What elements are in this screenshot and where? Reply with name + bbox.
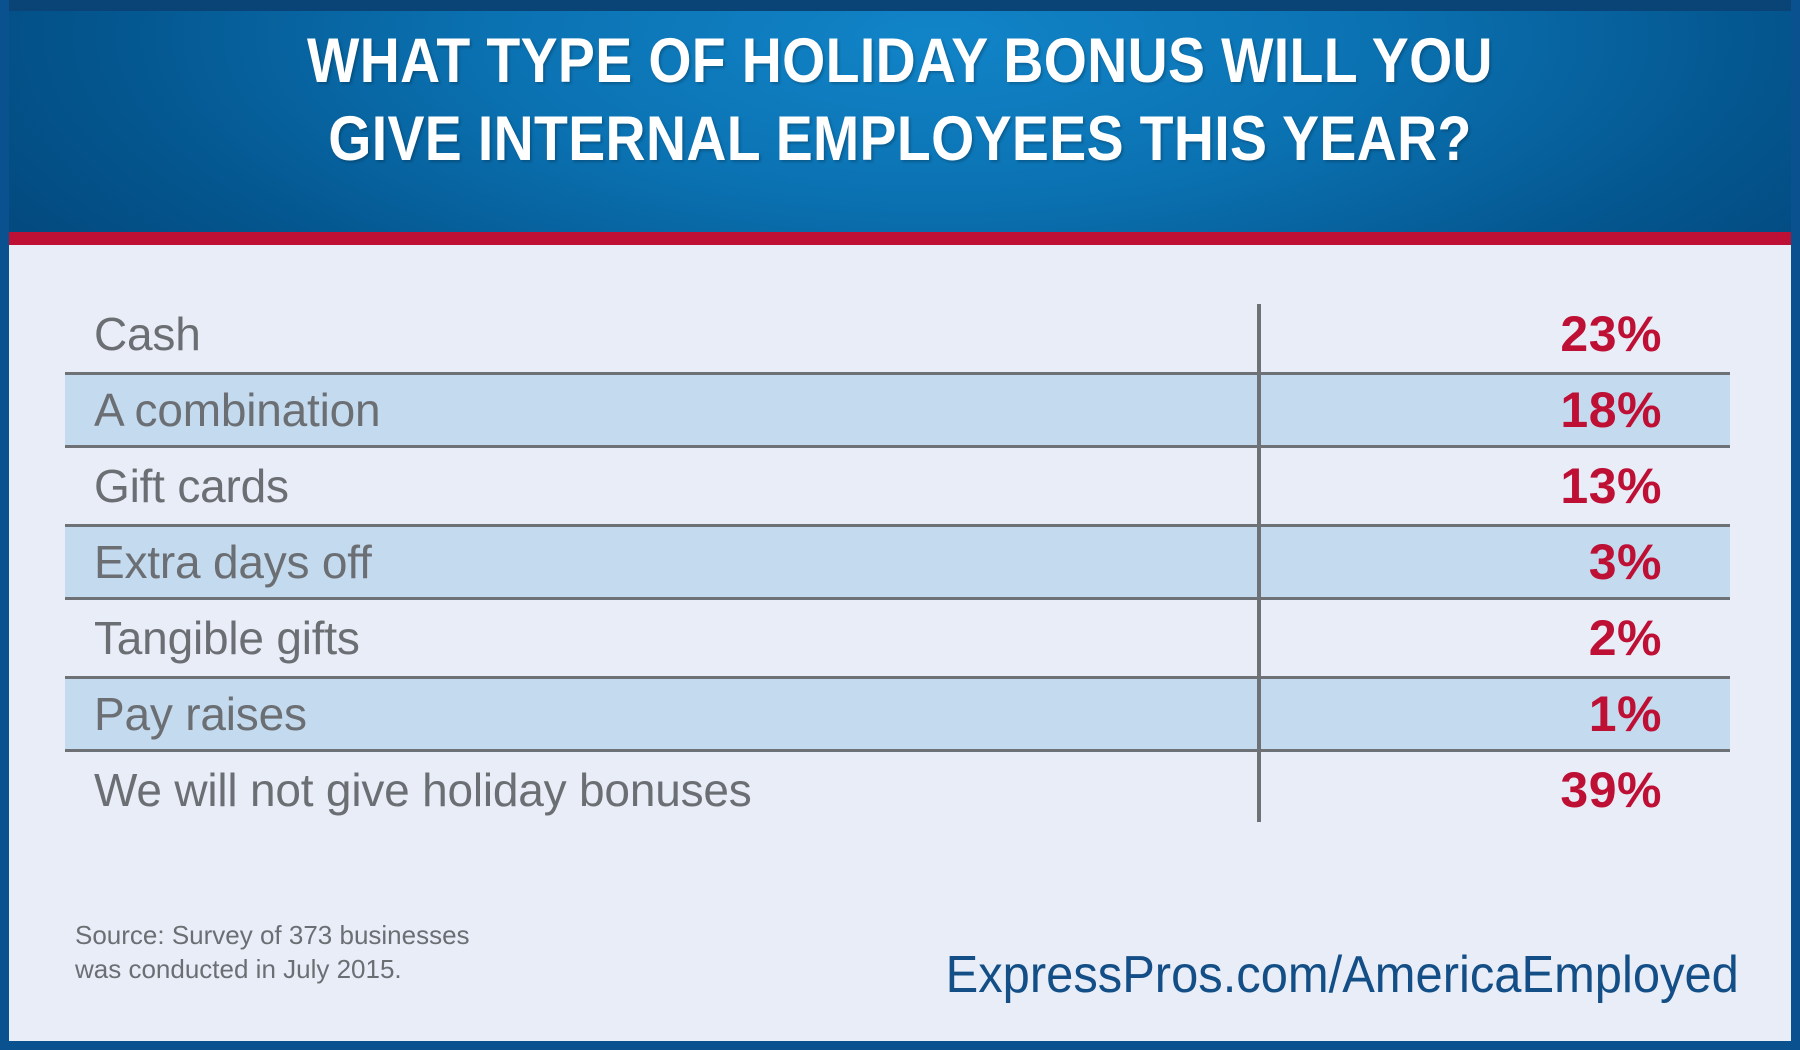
row-value: 18% [1245,381,1730,439]
row-label: Extra days off [65,535,1245,589]
column-divider [1257,304,1261,822]
row-label: Gift cards [65,459,1245,513]
row-value: 1% [1245,685,1730,743]
row-value: 2% [1245,609,1730,667]
row-value: 13% [1245,457,1730,515]
infographic-poster: WHAT TYPE OF HOLIDAY BONUS WILL YOU GIVE… [0,0,1800,1050]
website-url[interactable]: ExpressPros.com/AmericaEmployed [946,945,1739,1005]
header-banner: WHAT TYPE OF HOLIDAY BONUS WILL YOU GIVE… [0,0,1800,232]
table-row: Tangible gifts 2% [65,600,1730,676]
row-label: A combination [65,383,1245,437]
table-row: We will not give holiday bonuses 39% [65,752,1730,828]
page-title: WHAT TYPE OF HOLIDAY BONUS WILL YOU GIVE… [108,22,1692,178]
table-row: Gift cards 13% [65,448,1730,524]
table-row: Pay raises 1% [65,676,1730,752]
row-value: 3% [1245,533,1730,591]
row-value: 23% [1245,305,1730,363]
table-row: Cash 23% [65,296,1730,372]
source-note: Source: Survey of 373 businesses was con… [75,918,470,986]
row-value: 39% [1245,761,1730,819]
red-divider-rule [0,232,1800,245]
table-row: A combination 18% [65,372,1730,448]
row-label: Pay raises [65,687,1245,741]
table-row: Extra days off 3% [65,524,1730,600]
row-label: Tangible gifts [65,611,1245,665]
results-table: Cash 23% A combination 18% Gift cards 13… [65,296,1730,828]
row-label: Cash [65,307,1245,361]
header-top-strip [0,0,1800,11]
row-label: We will not give holiday bonuses [65,763,1245,817]
